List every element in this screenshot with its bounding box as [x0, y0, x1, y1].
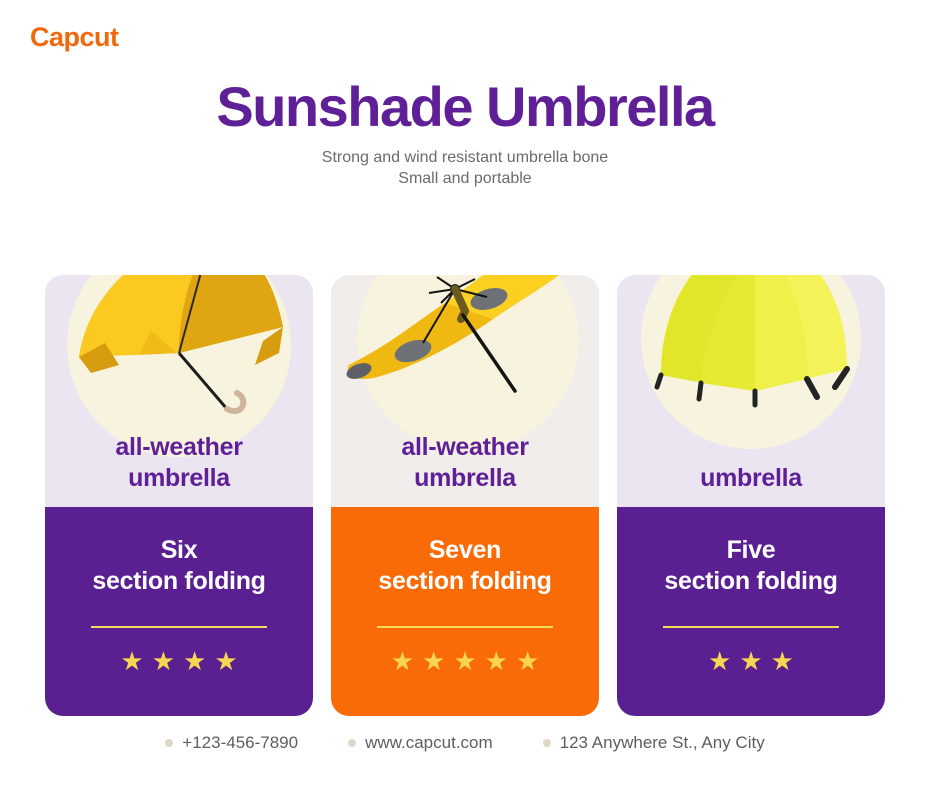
- dome-yellow-umbrella-icon: [639, 275, 869, 427]
- storm-proof-yellow-umbrella-icon: [337, 275, 595, 431]
- star-icon: ★: [516, 648, 539, 674]
- star-icon: ★: [120, 648, 143, 674]
- classic-yellow-umbrella-icon: [59, 275, 303, 431]
- card-subtitle-line-1: Six: [92, 535, 265, 566]
- card-title-line-2: umbrella: [115, 463, 242, 494]
- card-divider: [91, 626, 267, 628]
- headline-block: Sunshade Umbrella Strong and wind resist…: [0, 78, 930, 190]
- star-icon: ★: [422, 648, 445, 674]
- star-icon: ★: [391, 648, 414, 674]
- page-title: Sunshade Umbrella: [0, 78, 930, 137]
- card-title-line-1: umbrella: [700, 463, 802, 494]
- rating-stars: ★ ★ ★ ★: [120, 648, 237, 674]
- product-card-five-section[interactable]: umbrella Five section folding ★ ★ ★: [617, 275, 885, 716]
- card-image-area: all-weather umbrella: [331, 275, 599, 507]
- card-subtitle: Seven section folding: [378, 535, 551, 596]
- card-detail-area: Seven section folding ★ ★ ★ ★ ★: [331, 507, 599, 716]
- bullet-dot-icon: [348, 739, 356, 747]
- card-subtitle-line-1: Seven: [378, 535, 551, 566]
- card-subtitle-line-1: Five: [664, 535, 837, 566]
- contact-website-label: www.capcut.com: [365, 733, 493, 753]
- product-card-six-section[interactable]: all-weather umbrella Six section folding…: [45, 275, 313, 716]
- bullet-dot-icon: [543, 739, 551, 747]
- star-icon: ★: [453, 648, 476, 674]
- rating-stars: ★ ★ ★: [708, 648, 794, 674]
- card-title-line-2: umbrella: [401, 463, 528, 494]
- star-icon: ★: [708, 648, 731, 674]
- card-image-area: umbrella: [617, 275, 885, 507]
- bullet-dot-icon: [165, 739, 173, 747]
- card-title: all-weather umbrella: [115, 432, 242, 493]
- card-divider: [663, 626, 839, 628]
- card-title: all-weather umbrella: [401, 432, 528, 493]
- star-icon: ★: [152, 648, 175, 674]
- star-icon: ★: [771, 648, 794, 674]
- card-title-line-1: all-weather: [115, 432, 242, 463]
- star-icon: ★: [214, 648, 237, 674]
- contact-address-label: 123 Anywhere St., Any City: [560, 733, 765, 753]
- contact-phone-label: +123-456-7890: [182, 733, 298, 753]
- star-icon: ★: [485, 648, 508, 674]
- star-icon: ★: [739, 648, 762, 674]
- card-title: umbrella: [700, 463, 802, 494]
- card-subtitle-line-2: section folding: [664, 566, 837, 597]
- card-detail-area: Six section folding ★ ★ ★ ★: [45, 507, 313, 716]
- page-subtitle: Strong and wind resistant umbrella bone …: [0, 147, 930, 190]
- card-divider: [377, 626, 553, 628]
- contact-address[interactable]: 123 Anywhere St., Any City: [543, 733, 765, 753]
- card-image-area: all-weather umbrella: [45, 275, 313, 507]
- brand-logo: Capcut: [30, 22, 119, 53]
- star-icon: ★: [183, 648, 206, 674]
- card-subtitle-line-2: section folding: [92, 566, 265, 597]
- contact-website[interactable]: www.capcut.com: [348, 733, 493, 753]
- product-card-seven-section[interactable]: all-weather umbrella Seven section foldi…: [331, 275, 599, 716]
- rating-stars: ★ ★ ★ ★ ★: [391, 648, 540, 674]
- card-title-line-1: all-weather: [401, 432, 528, 463]
- subtitle-line-1: Strong and wind resistant umbrella bone: [0, 147, 930, 169]
- subtitle-line-2: Small and portable: [0, 168, 930, 190]
- card-subtitle: Five section folding: [664, 535, 837, 596]
- card-subtitle: Six section folding: [92, 535, 265, 596]
- contact-phone[interactable]: +123-456-7890: [165, 733, 298, 753]
- card-subtitle-line-2: section folding: [378, 566, 551, 597]
- product-card-list: all-weather umbrella Six section folding…: [45, 275, 885, 716]
- footer-contact-bar: +123-456-7890 www.capcut.com 123 Anywher…: [0, 733, 930, 753]
- card-detail-area: Five section folding ★ ★ ★: [617, 507, 885, 716]
